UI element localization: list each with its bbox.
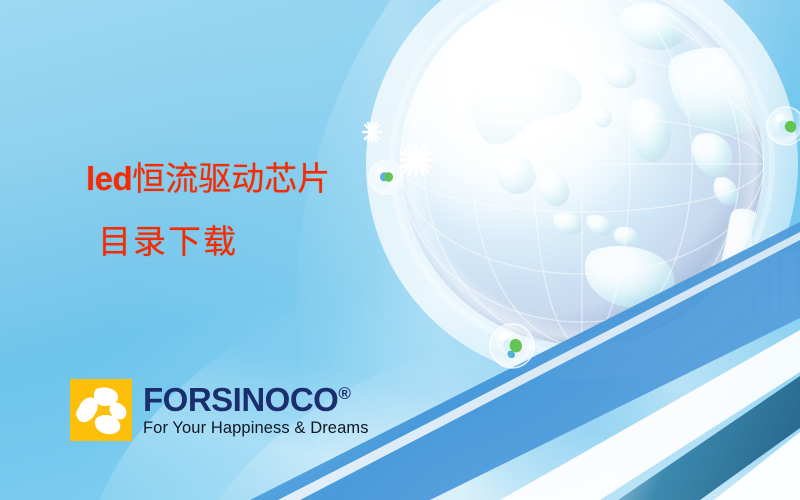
bubble-globe-small-right	[766, 106, 800, 146]
starburst-small-icon	[361, 121, 383, 143]
bubble-globe-small-upper	[368, 159, 404, 195]
starburst-large-icon	[399, 143, 433, 177]
headline-latin: led	[86, 160, 132, 197]
logo-tagline: For Your Happiness & Dreams	[143, 419, 369, 438]
headline-line-2: 目录下载	[98, 223, 330, 262]
registered-trademark-symbol: ®	[338, 384, 350, 403]
logo-wordmark-text: FORSINOCO	[143, 381, 338, 418]
logo-wordmark: FORSINOCO®	[143, 383, 369, 416]
forsinoco-pinwheel-mark	[70, 379, 132, 441]
company-logo: FORSINOCO® For Your Happiness & Dreams	[70, 379, 369, 441]
headline-cjk: 恒流驱动芯片	[132, 159, 330, 198]
logo-text-block: FORSINOCO® For Your Happiness & Dreams	[143, 383, 369, 438]
earth-globe	[382, 0, 782, 364]
bubble-globe-small-lower	[489, 323, 535, 369]
headline-text: led恒流驱动芯片 目录下载	[86, 160, 330, 262]
hero-banner: led恒流驱动芯片 目录下载 FORSINOCO® For Your Happi…	[0, 0, 800, 500]
pinwheel-icon	[70, 379, 132, 441]
headline-line-1: led恒流驱动芯片	[86, 160, 330, 199]
